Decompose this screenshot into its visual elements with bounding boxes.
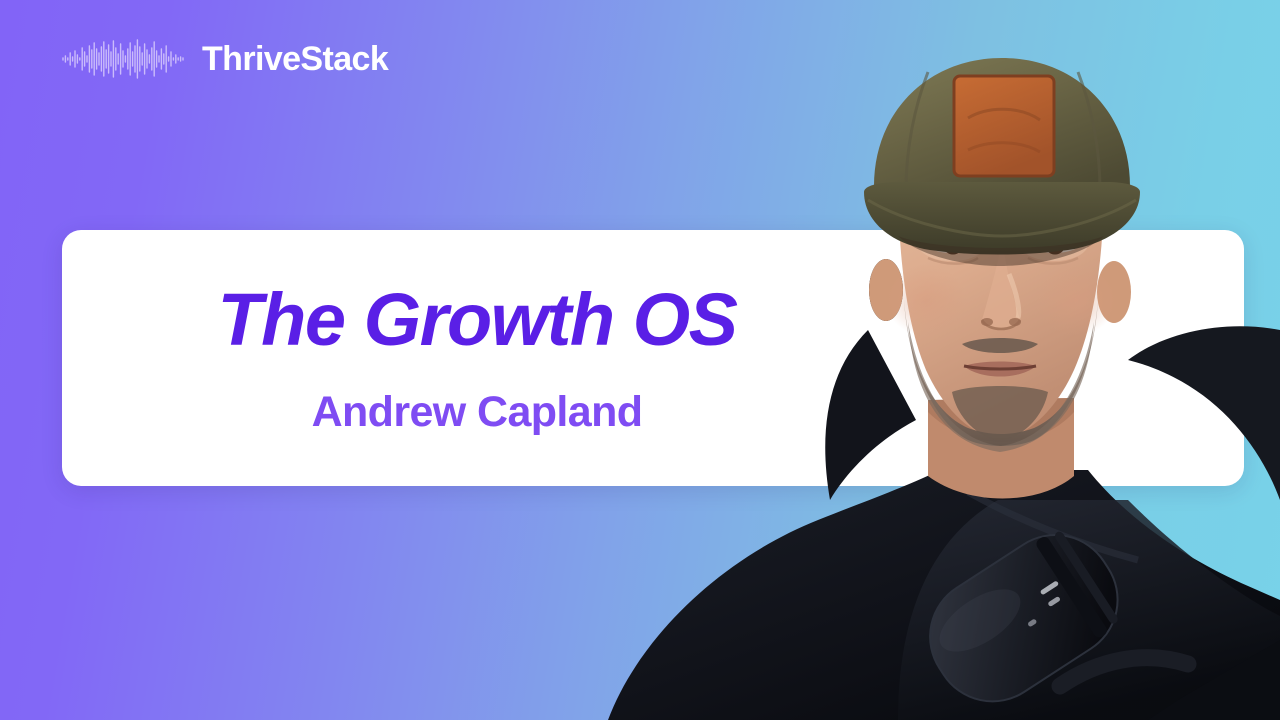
audio-waveform-icon <box>62 38 184 80</box>
brand-lockup: ThriveStack <box>62 38 388 80</box>
page-title: The Growth OS <box>217 283 736 357</box>
title-card: The Growth OS Andrew Capland <box>62 230 1244 486</box>
title-card-text-block: The Growth OS Andrew Capland <box>62 230 892 486</box>
brand-name: ThriveStack <box>202 42 388 76</box>
microphone <box>908 513 1280 720</box>
speaker-name: Andrew Capland <box>312 391 643 434</box>
video-thumbnail-stage: ThriveStack The Growth OS Andrew Capland <box>0 0 1280 720</box>
